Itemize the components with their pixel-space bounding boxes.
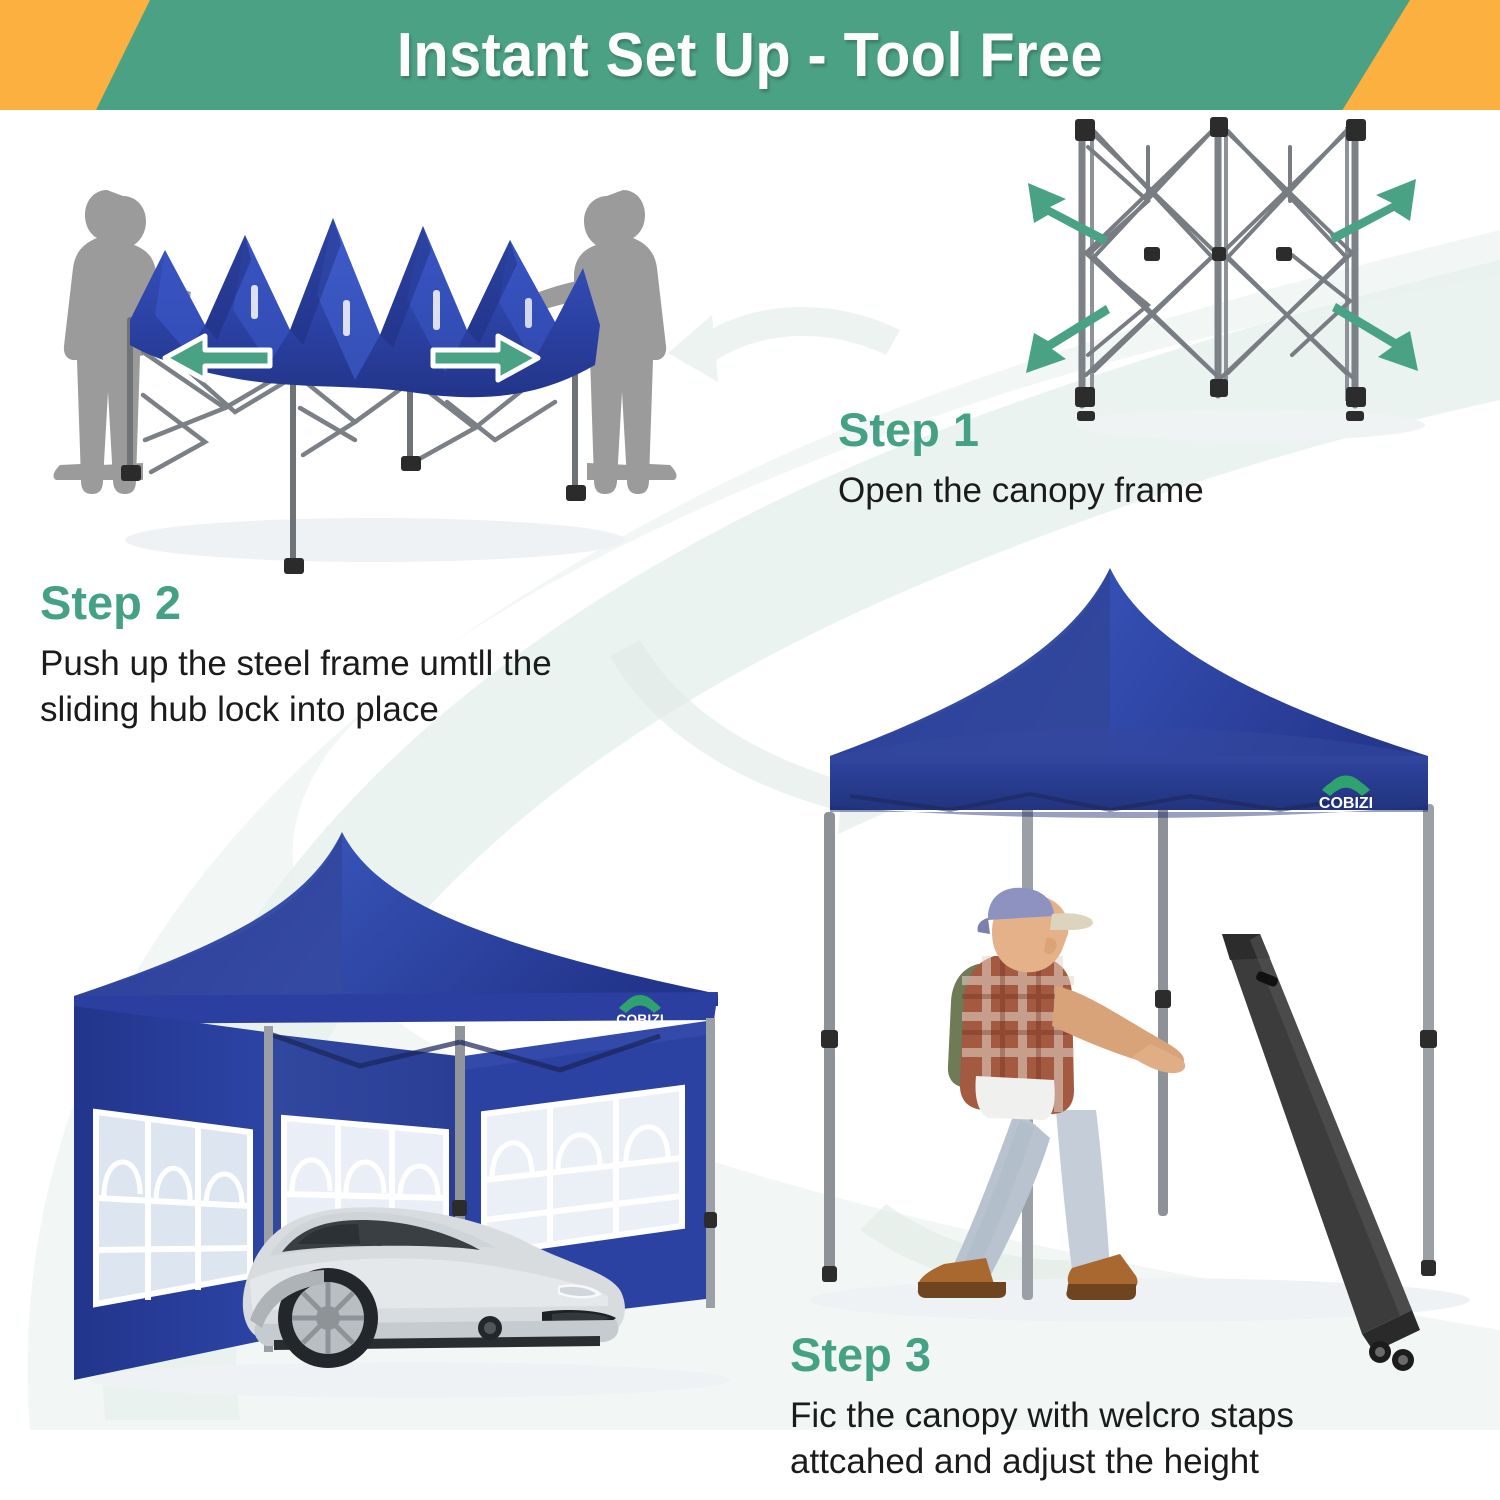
infographic-canvas: Instant Set Up - Tool Free <box>0 0 1500 1500</box>
sidewall-window-left <box>96 1112 250 1304</box>
step3-text-block: Step 3 Fic the canopy with welcro staps … <box>790 1330 1390 1484</box>
step3-body-line-2: attcahed and adjust the height <box>790 1439 1390 1485</box>
step1-heading: Step 1 <box>838 405 1298 454</box>
expand-arrow-bottom-right <box>1332 303 1418 371</box>
step2-illustration <box>55 140 675 570</box>
step3-illustration: COBIZI <box>810 560 1500 1360</box>
header-banner: Instant Set Up - Tool Free <box>0 0 1500 110</box>
expand-arrow-top-right <box>1330 179 1416 243</box>
step2-body: Push up the steel frame umtll the slidin… <box>40 641 650 732</box>
expand-arrow-top-left <box>1028 183 1108 245</box>
flow-arrow-1 <box>668 307 900 382</box>
step2-body-line-1: Push up the steel frame umtll the <box>40 641 650 687</box>
sidewall-window-right <box>484 1088 682 1254</box>
brand-logo-text: COBIZI <box>1319 795 1373 812</box>
man-shirt <box>960 956 1074 1120</box>
canopy-roof-sidewall <box>74 832 718 1024</box>
step2-heading: Step 2 <box>40 578 650 627</box>
step2-text-block: Step 2 Push up the steel frame umtll the… <box>40 578 650 732</box>
step3-body-line-1: Fic the canopy with welcro staps <box>790 1393 1390 1439</box>
step3-heading: Step 3 <box>790 1330 1390 1379</box>
step3-body: Fic the canopy with welcro staps attcahe… <box>790 1393 1390 1484</box>
step1-body: Open the canopy frame <box>838 468 1298 514</box>
sidewall-canopy-illustration: COBIZI <box>60 820 760 1400</box>
step1-text-block: Step 1 Open the canopy frame <box>838 405 1298 514</box>
baseball-cap <box>988 888 1054 920</box>
cap-brim <box>1050 913 1093 930</box>
step2-body-line-2: sliding hub lock into place <box>40 687 650 733</box>
step1-illustration <box>1020 105 1460 450</box>
brand-logo-text-2: COBIZI <box>616 1011 663 1027</box>
page-title: Instant Set Up - Tool Free <box>53 0 1448 110</box>
